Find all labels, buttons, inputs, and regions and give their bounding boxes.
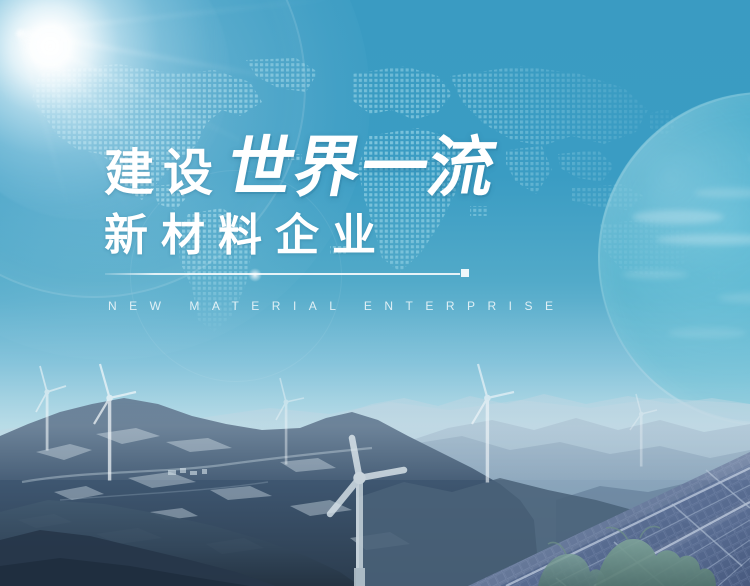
headline-line-1: 建设 世界一流: [104, 134, 496, 206]
horizontal-rule-icon: [105, 273, 460, 275]
headline-emphasis: 世界一流: [222, 134, 503, 200]
banner-text-block: 建设 世界一流 新材料企业 NEW MATERIAL ENTERPRISE: [0, 0, 750, 586]
banner-subtitle: NEW MATERIAL ENTERPRISE: [108, 299, 566, 313]
headline-prefix: 建设: [104, 148, 222, 198]
square-marker-icon: [461, 269, 469, 277]
hero-banner: 建设 世界一流 新材料企业 NEW MATERIAL ENTERPRISE: [0, 0, 750, 586]
headline-line-2: 新材料企业: [104, 214, 389, 258]
